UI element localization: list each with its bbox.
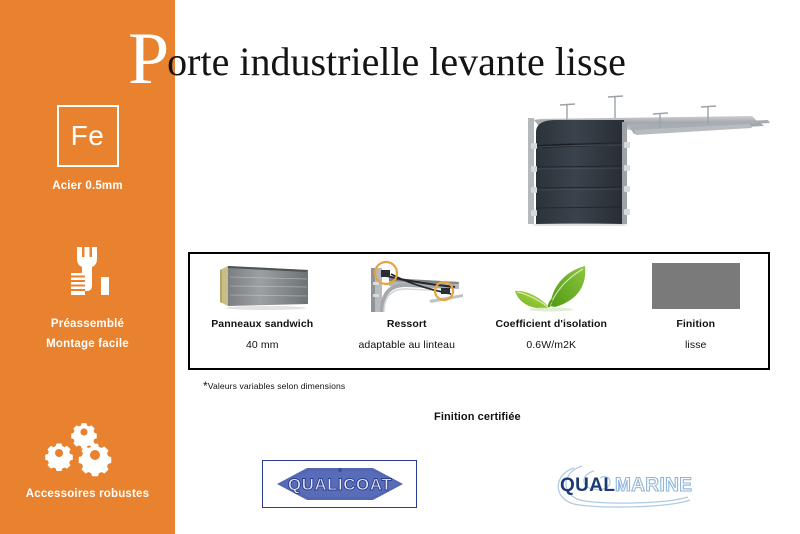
feature-title-finition: Finition — [676, 318, 715, 330]
wrench-bolts-icon — [0, 245, 175, 307]
feature-title-panneaux: Panneaux sandwich — [211, 318, 313, 330]
certified-label: Finition certifiée — [434, 411, 521, 423]
slide-root: Fe Acier 0.5mm — [0, 0, 800, 534]
feature-value-isolation: 0.6W/m2K — [526, 339, 576, 351]
feature-cell-isolation: Coefficient d'isolation 0.6W/m2K — [479, 254, 624, 368]
feature-value-ressort: adaptable au linteau — [358, 339, 455, 351]
page-title-initial: P — [128, 26, 169, 93]
green-leaves-image — [503, 260, 599, 312]
footnote-text: Valeurs variables selon dimensions — [208, 381, 345, 391]
qualimarine-logo: QUALI MARINE — [548, 462, 708, 510]
feature-value-panneaux: 40 mm — [246, 339, 279, 351]
page-title-rest: orte industrielle levante lisse — [167, 42, 626, 82]
footnote-asterisk: * — [203, 379, 208, 393]
sidebar-label-montage: Montage facile — [0, 335, 175, 355]
features-panel: Panneaux sandwich 40 mm — [188, 252, 770, 370]
qualimarine-marine-text: MARINE — [615, 475, 692, 496]
fe-symbol-label: Fe — [71, 122, 105, 150]
product-photo — [512, 86, 772, 226]
qualicoat-wordmark: QUALICOAT — [287, 475, 391, 494]
sandwich-panel-image — [208, 260, 316, 312]
feature-value-finition: lisse — [685, 339, 707, 351]
feature-title-ressort: Ressort — [387, 318, 427, 330]
footnote: *Valeurs variables selon dimensions — [203, 381, 345, 395]
sidebar-item-preassemble: Préassemblé Montage facile — [0, 245, 175, 354]
finish-color-swatch — [652, 263, 740, 309]
sidebar-label-acier: Acier 0.5mm — [0, 177, 175, 197]
gears-icon — [0, 415, 175, 477]
sidebar-item-accessoires: Accessoires robustes — [0, 415, 175, 505]
fe-square-icon: Fe — [57, 105, 119, 167]
qualicoat-logo: QUALICOAT — [262, 460, 417, 508]
sidebar-label-accessoires: Accessoires robustes — [0, 485, 175, 505]
feature-cell-finition: Finition lisse — [624, 254, 769, 368]
spring-mechanism-image — [351, 260, 463, 312]
page-title: P orte industrielle levante lisse — [128, 18, 626, 85]
qualimarine-quali-text: QUALI — [560, 475, 621, 496]
sidebar-item-acier: Fe Acier 0.5mm — [0, 105, 175, 197]
feature-cell-ressort: Ressort adaptable au linteau — [335, 254, 480, 368]
feature-title-isolation: Coefficient d'isolation — [495, 318, 607, 330]
feature-cell-panneaux: Panneaux sandwich 40 mm — [190, 254, 335, 368]
smooth-finish-swatch — [652, 260, 740, 312]
sidebar-label-preassemble: Préassemblé — [0, 315, 175, 335]
